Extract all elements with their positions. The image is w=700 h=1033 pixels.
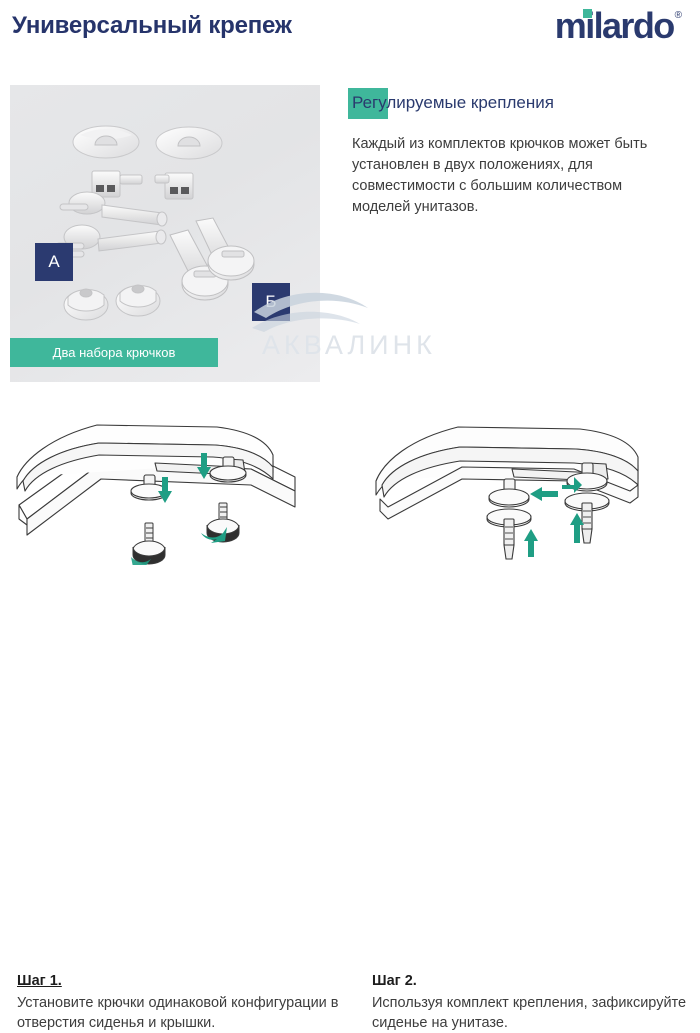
step-1-block: Шаг 1. Установите крючки одинаковой конф… bbox=[5, 415, 350, 630]
photo-caption-bar: Два набора крючков bbox=[10, 338, 218, 367]
step-1-diagram bbox=[5, 415, 350, 565]
direction-arrow-icon bbox=[524, 477, 584, 557]
brand-name-text: milardo bbox=[555, 5, 674, 46]
step-2-text: Используя комплект крепления, зафиксируй… bbox=[372, 993, 700, 1033]
step-2-diagram bbox=[362, 415, 700, 565]
feature-heading: Регулируемые крепления bbox=[352, 93, 554, 113]
brand-logo: milardo ® bbox=[555, 8, 682, 44]
photo-marker-a: А bbox=[35, 243, 73, 281]
brand-accent-dot-icon bbox=[583, 9, 592, 18]
registered-trademark-icon: ® bbox=[675, 10, 682, 21]
page-title: Универсальный крепеж bbox=[12, 12, 292, 40]
step-2-block: Шаг 2. Используя комплект крепления, заф… bbox=[362, 415, 700, 630]
step-1-text: Установите крючки одинаковой конфигураци… bbox=[17, 993, 352, 1033]
brand-wordmark: milardo bbox=[555, 8, 674, 44]
step-2-title: Шаг 2. bbox=[372, 973, 417, 989]
product-photo-panel: А Б Два набора крючков bbox=[10, 85, 320, 382]
feature-body-text: Каждый из комплектов крючков может быть … bbox=[352, 134, 652, 218]
step-1-title: Шаг 1. bbox=[17, 973, 62, 989]
infographic-page: Универсальный крепеж milardo ® bbox=[0, 0, 700, 630]
photo-marker-b: Б bbox=[252, 283, 290, 321]
